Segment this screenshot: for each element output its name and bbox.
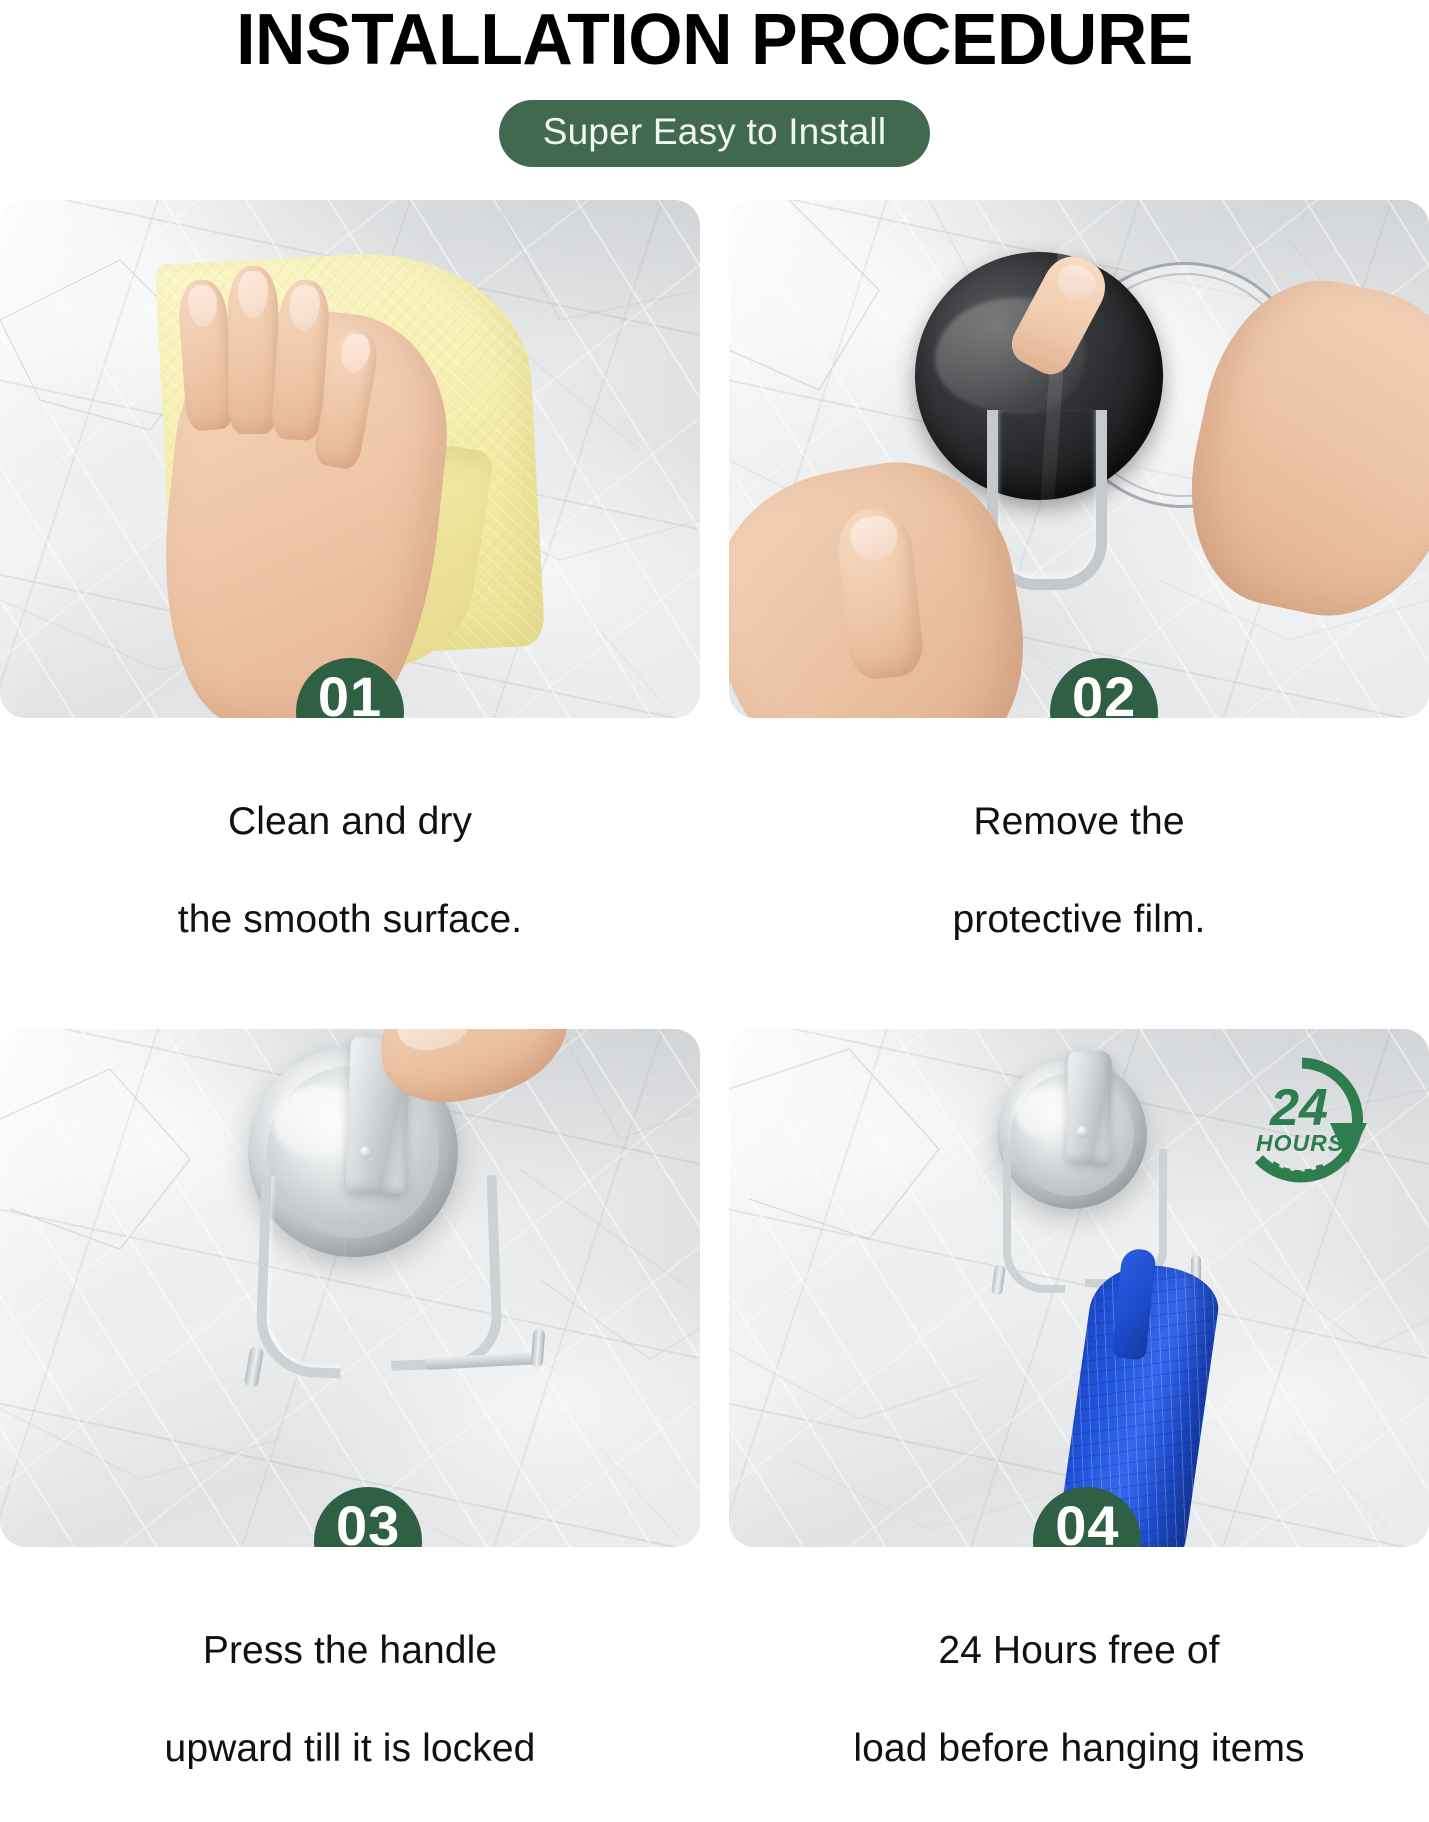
step-caption-01: Clean and dry the smooth surface. [0,748,700,993]
step-card-03: 03 Press the handle upward till it is lo… [0,1029,700,1822]
fingernail [338,332,372,375]
rivet [360,1146,372,1158]
step-caption-04: 24 Hours free of load before hanging ite… [729,1577,1429,1822]
step-card-02: 用前撕掉保护膜 承重6kg 02 Remove the protective f… [729,200,1429,993]
subtitle-row: Super Easy to Install [0,100,1429,167]
step-photo-04: 24 HOURS 04 [729,1029,1429,1547]
step-card-01: 01 Clean and dry the smooth surface. [0,200,700,993]
caption-line-1: Clean and dry [0,797,700,846]
step-caption-02: Remove the protective film. [729,748,1429,993]
rivet [1076,1126,1088,1138]
subtitle-badge: Super Easy to Install [499,100,931,167]
caption-line-2: protective film. [729,895,1429,944]
page-header: INSTALLATION PROCEDURE Super Easy to Ins… [0,0,1429,167]
fingernail [288,284,321,331]
steps-grid: 01 Clean and dry the smooth surface. 用前撕… [0,200,1429,1822]
caption-line-1: Press the handle [0,1626,700,1675]
hook-arm-left [1003,1149,1065,1293]
caption-line-2: upward till it is locked [0,1724,700,1773]
step-photo-02: 用前撕掉保护膜 承重6kg 02 [729,200,1429,718]
step-caption-03: Press the handle upward till it is locke… [0,1577,700,1822]
hook-arm-left [255,1176,348,1379]
step-photo-03: 03 [0,1029,700,1547]
fingernail [238,271,268,318]
hook-arm-right [385,1175,504,1371]
step-photo-01: 01 [0,200,700,718]
step-card-04: 24 HOURS 04 24 Hours free of load before… [729,1029,1429,1822]
caption-line-1: 24 Hours free of [729,1626,1429,1675]
caption-line-2: the smooth surface. [0,895,700,944]
caption-line-1: Remove the [729,797,1429,846]
caption-line-2: load before hanging items [729,1724,1429,1773]
finger [228,266,278,434]
badge-24-hours-label: HOURS [1256,1130,1344,1156]
lever-handle [1066,1051,1112,1164]
fingernail [1052,259,1102,307]
24-hours-icon: 24 HOURS [1233,1051,1371,1189]
badge-24-number: 24 [1269,1079,1328,1137]
page-title: INSTALLATION PROCEDURE [21,2,1407,78]
fingernail [187,284,219,328]
thumbnail [848,514,900,563]
